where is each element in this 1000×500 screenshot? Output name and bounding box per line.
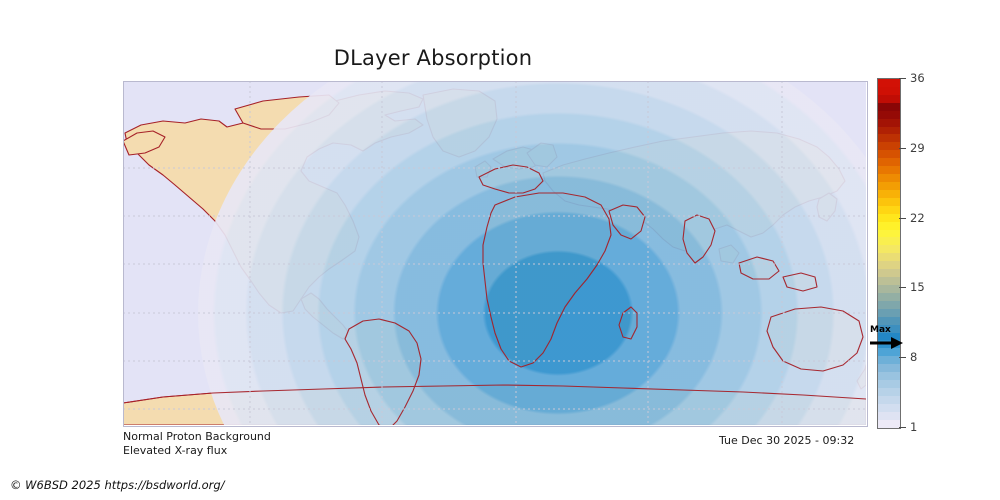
- world-map[interactable]: [123, 81, 866, 425]
- colorbar-segment: [878, 364, 900, 372]
- colorbar-segment: [878, 388, 900, 396]
- colorbar-tick: [899, 218, 906, 219]
- colorbar-segment: [878, 285, 900, 293]
- colorbar-segment: [878, 301, 900, 309]
- colorbar-segment: [878, 158, 900, 166]
- colorbar-segment: [878, 198, 900, 206]
- colorbar-segment: [878, 142, 900, 150]
- figure-root: DLayer Absorption: [0, 0, 1000, 500]
- colorbar-segment: [878, 261, 900, 269]
- colorbar[interactable]: [877, 78, 901, 429]
- colorbar-segment: [878, 174, 900, 182]
- colorbar-tick: [899, 287, 906, 288]
- colorbar-tick: [899, 78, 906, 79]
- colorbar-segment: [878, 166, 900, 174]
- colorbar-tick-label: 22: [910, 211, 925, 225]
- colorbar-segment: [878, 150, 900, 158]
- colorbar-tick-label: 8: [910, 350, 917, 364]
- copyright: © W6BSD 2025 https://bsdworld.org/: [10, 478, 225, 492]
- colorbar-label: Affected Frequency (MHz): [925, 78, 1000, 427]
- colorbar-segment: [878, 87, 900, 95]
- colorbar-segment: [878, 412, 900, 420]
- colorbar-segment: [878, 237, 900, 245]
- colorbar-segment: [878, 190, 900, 198]
- colorbar-segment: [878, 380, 900, 388]
- colorbar-segment: [878, 269, 900, 277]
- note-proton-background: Normal Proton Background: [123, 430, 271, 443]
- colorbar-tick: [899, 357, 906, 358]
- colorbar-segment: [878, 95, 900, 103]
- colorbar-segment: [878, 79, 900, 87]
- colorbar-segment: [878, 222, 900, 230]
- colorbar-tick: [899, 148, 906, 149]
- colorbar-segment: [878, 134, 900, 142]
- absorption-contours: [198, 81, 866, 425]
- colorbar-segment: [878, 245, 900, 253]
- colorbar-tick: [899, 427, 906, 428]
- colorbar-segment: [878, 103, 900, 111]
- colorbar-tick-label: 36: [910, 71, 925, 85]
- colorbar-tick-label: 29: [910, 141, 925, 155]
- colorbar-segment: [878, 119, 900, 127]
- colorbar-segment: [878, 206, 900, 214]
- colorbar-segment: [878, 404, 900, 412]
- colorbar-segment: [878, 420, 900, 428]
- colorbar-segment: [878, 396, 900, 404]
- colorbar-segment: [878, 214, 900, 222]
- max-marker: Max: [869, 326, 903, 350]
- colorbar-tick-label: 15: [910, 280, 925, 294]
- page-title: DLayer Absorption: [0, 46, 866, 70]
- arrow-right-icon: [869, 336, 903, 350]
- max-marker-label: Max: [870, 325, 891, 335]
- colorbar-segment: [878, 277, 900, 285]
- colorbar-segment: [878, 372, 900, 380]
- colorbar-segment: [878, 182, 900, 190]
- colorbar-segment: [878, 309, 900, 317]
- timestamp: Tue Dec 30 2025 - 09:32: [719, 434, 854, 447]
- colorbar-segment: [878, 317, 900, 325]
- colorbar-segment: [878, 111, 900, 119]
- map-canvas: [123, 81, 866, 425]
- note-xray-flux: Elevated X-ray flux: [123, 444, 227, 457]
- colorbar-segment: [878, 127, 900, 135]
- colorbar-segment: [878, 230, 900, 238]
- colorbar-segment: [878, 253, 900, 261]
- colorbar-segment: [878, 356, 900, 364]
- colorbar-segment: [878, 293, 900, 301]
- colorbar-tick-label: 1: [910, 420, 917, 434]
